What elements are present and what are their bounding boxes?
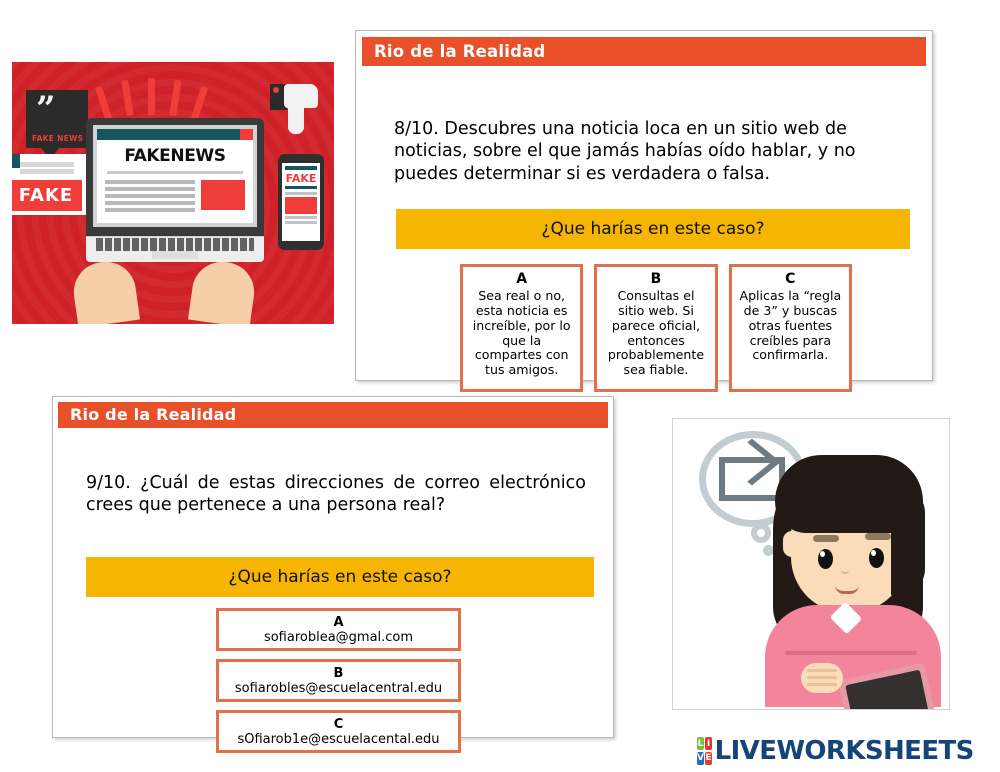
liveworksheets-logo[interactable]: L I V E LIVEWORKSHEETS [697,736,957,766]
eyebrow-left [813,535,839,542]
option-a[interactable]: A sofiaroblea@gmal.com [216,608,461,651]
fake-banner-text: FAKE [19,185,73,206]
news-rule [107,171,243,174]
options-list: A sofiaroblea@gmal.com B sofiarobles@esc… [216,608,461,753]
logo-tile-e: E [705,752,711,765]
news-topbar [97,129,253,140]
collar [825,605,871,635]
phone-line [285,221,317,224]
option-letter: B [334,667,344,681]
fake-banner-line [20,169,74,174]
hair-front [775,455,923,533]
eye-left [818,549,833,569]
smartphone: FAKE [278,154,324,250]
eye-right [869,548,884,568]
arm-line [785,651,917,655]
question-card-8: Rio de la Realidad 8/10. Descubres una n… [355,30,933,381]
logo-tile-i: I [705,737,711,750]
hand [801,663,843,693]
laptop-keyboard [96,238,254,251]
thumb-finger [288,106,304,134]
news-image [201,180,245,210]
option-c[interactable]: C Aplicas la “regla de 3” y buscas otras… [729,264,852,392]
fake-banner: FAKE [12,154,86,215]
worksheet-page: ” FAKE NEWS FAKE [0,0,1000,772]
quote-mark-icon: ” [36,96,56,122]
girl-thinking-email-illustration [672,418,950,710]
phone-bar [285,186,317,189]
logo-wordmark: LIVEWORKSHEETS [715,736,974,766]
option-text: Sea real o no, esta noticia es increíble… [469,289,574,378]
phone-screen: FAKE [282,163,320,241]
option-letter: B [651,271,662,287]
news-page: FAKENEWS [97,129,253,223]
question-text: 8/10. Descubres una noticia loca en un s… [394,118,906,185]
phone-line [285,216,317,219]
option-text: Consultas el sitio web. Si parece oficia… [603,289,708,378]
eyebrow-right [865,533,891,540]
fake-banner-line [20,162,74,167]
exclamation-stroke [148,78,155,115]
logo-tiles: L I V E [697,737,712,765]
option-b[interactable]: B sofiarobles@escuelacentral.edu [216,659,461,702]
phone-image [285,197,317,214]
phone-fake-text: FAKE [285,172,317,185]
option-letter: A [333,616,343,630]
fake-news-bubble-label: FAKE NEWS [32,134,83,143]
question-text: 9/10. ¿Cuál de estas direcciones de corr… [86,472,586,517]
thumbs-down-icon [270,84,320,136]
fingers [807,669,837,672]
speech-bubble: ” FAKE NEWS [26,90,88,148]
ear [783,531,801,557]
laptop-base [86,236,264,262]
fake-banner-box: FAKE [12,180,82,211]
option-a[interactable]: A Sea real o no, esta noticia es increíb… [460,264,583,392]
laptop-trackpad [152,251,198,259]
question-card-9: Rio de la Realidad 9/10. ¿Cuál de estas … [52,396,614,738]
option-c[interactable]: C sOfiarob1e@escuelacental.edu [216,710,461,753]
phone-line [285,192,317,195]
fake-news-illustration: ” FAKE NEWS FAKE [12,62,334,324]
fake-banner-card: FAKE [12,154,86,215]
fake-banner-square [12,154,20,168]
option-text: Aplicas la “regla de 3” y buscas otras f… [738,289,843,363]
phone-screen [845,670,928,710]
news-topbar-accent [240,129,253,140]
option-text: sofiaroblea@gmal.com [264,630,413,646]
laptop-lid: FAKENEWS [86,118,264,236]
option-letter: C [785,271,795,287]
option-letter: A [516,271,527,287]
phone-topbar [285,166,317,170]
option-text: sofiarobles@escuelacentral.edu [235,681,442,697]
logo-tile-v: V [697,752,704,765]
logo-tile-l: L [697,737,704,750]
option-letter: C [334,718,344,732]
news-columns [97,175,253,223]
thought-bubble-small [751,523,771,543]
laptop: FAKENEWS [86,118,264,262]
card-header-title: Rio de la Realidad [362,37,926,66]
laptop-screen: FAKENEWS [93,125,257,227]
thumb-dot [273,87,279,93]
card-header-title: Rio de la Realidad [58,402,608,428]
news-headline: FAKENEWS [97,140,253,170]
prompt-bar[interactable]: ¿Que harías en este caso? [86,557,594,597]
news-text-lines [105,180,195,215]
prompt-bar[interactable]: ¿Que harías en este caso? [396,209,910,249]
option-b[interactable]: B Consultas el sitio web. Si parece ofic… [594,264,717,392]
options-list: A Sea real o no, esta noticia es increíb… [460,264,852,392]
thumb-hand [284,84,318,108]
option-text: sOfiarob1e@escuelacental.edu [237,732,439,748]
